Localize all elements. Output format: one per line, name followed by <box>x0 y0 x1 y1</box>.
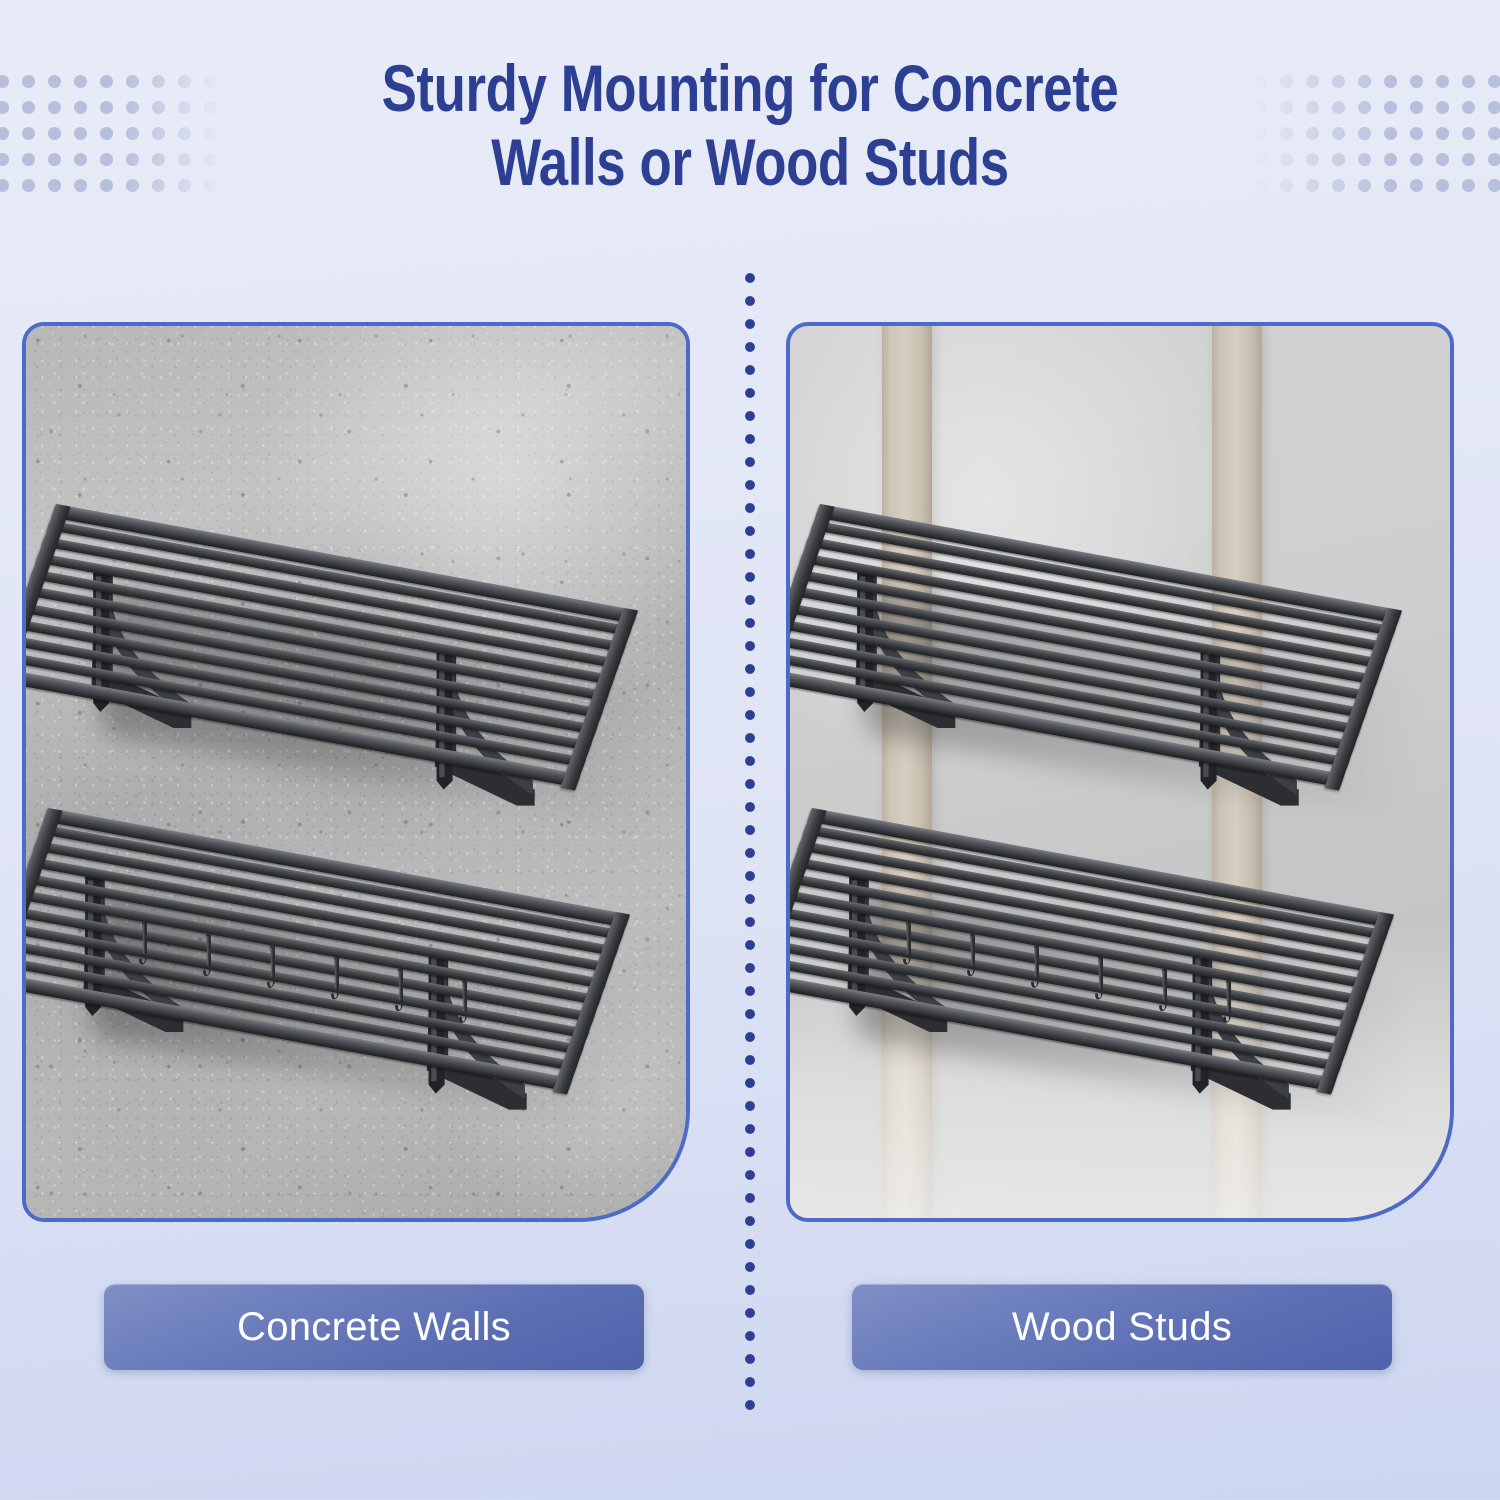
scene-concrete <box>26 326 686 1218</box>
decor-dot <box>0 101 9 114</box>
decor-dot <box>1410 127 1423 140</box>
decor-dot <box>1436 75 1449 88</box>
shelf-hanging-hook <box>457 981 473 1033</box>
upper-shelf <box>56 504 657 795</box>
decor-dot <box>48 179 61 192</box>
decor-dot <box>100 127 113 140</box>
decor-dot <box>74 127 87 140</box>
decor-dot <box>48 101 61 114</box>
decor-dot <box>1358 127 1371 140</box>
shelf-hanging-hook <box>393 969 409 1021</box>
decor-dot <box>100 179 113 192</box>
decor-dot <box>1358 75 1371 88</box>
panel-concrete-walls <box>22 322 690 1222</box>
decor-dot <box>126 101 139 114</box>
label-concrete-walls-text: Concrete Walls <box>237 1305 511 1350</box>
decor-dot <box>1436 127 1449 140</box>
decor-dot <box>100 75 113 88</box>
page-title: Sturdy Mounting for Concrete Walls or Wo… <box>150 52 1350 200</box>
decor-dot <box>126 153 139 166</box>
shelf-hanging-hook <box>901 922 917 974</box>
decor-dot <box>1488 153 1500 166</box>
label-wood-studs-text: Wood Studs <box>1012 1305 1232 1350</box>
decor-dot <box>1488 101 1500 114</box>
shelf-hanging-hook <box>329 957 345 1009</box>
decor-dot <box>1410 153 1423 166</box>
decor-dot <box>1358 153 1371 166</box>
decor-dot <box>1384 75 1397 88</box>
decor-dot <box>1384 101 1397 114</box>
decor-dot <box>0 75 9 88</box>
decor-dot <box>0 179 9 192</box>
shelf-hanging-hook <box>201 934 217 986</box>
shelf-hanging-hook <box>265 946 281 998</box>
decor-dot <box>1384 179 1397 192</box>
decor-dot <box>74 75 87 88</box>
page-title-line-2: Walls or Wood Studs <box>150 126 1350 200</box>
decor-dot <box>1384 127 1397 140</box>
decor-dot <box>100 153 113 166</box>
decor-dot <box>22 101 35 114</box>
decor-dot <box>1462 153 1475 166</box>
label-wood-studs[interactable]: Wood Studs <box>852 1284 1392 1370</box>
decor-dot <box>48 75 61 88</box>
scene-wood-studs <box>790 326 1450 1218</box>
vertical-dotted-divider <box>744 272 756 1420</box>
decor-dot <box>1384 153 1397 166</box>
decor-dot <box>1436 179 1449 192</box>
decor-dot <box>1462 127 1475 140</box>
decor-dot <box>1462 75 1475 88</box>
decor-dot <box>22 75 35 88</box>
panel-wood-studs <box>786 322 1454 1222</box>
shelf-hanging-hook <box>1029 946 1045 998</box>
decor-dot <box>48 153 61 166</box>
decor-dot <box>1488 75 1500 88</box>
lower-shelf <box>812 808 1413 1099</box>
page-title-line-1: Sturdy Mounting for Concrete <box>150 52 1350 126</box>
decor-dot <box>22 127 35 140</box>
decor-dot <box>1358 101 1371 114</box>
decor-dot <box>126 127 139 140</box>
decor-dot <box>1410 75 1423 88</box>
decor-dot <box>1488 127 1500 140</box>
shelf-hanging-hook <box>137 922 153 974</box>
decor-dot <box>126 75 139 88</box>
lower-shelf <box>48 808 649 1099</box>
decor-dot <box>1436 101 1449 114</box>
shelf-hanging-hook <box>1093 957 1109 1009</box>
decor-dot <box>74 153 87 166</box>
shelf-hanging-hook <box>1157 969 1173 1021</box>
decor-dot <box>1410 101 1423 114</box>
decor-dot <box>1436 153 1449 166</box>
decor-dot <box>74 101 87 114</box>
decor-dot <box>1488 179 1500 192</box>
upper-shelf <box>820 504 1421 795</box>
decor-dot <box>1462 179 1475 192</box>
decor-dot <box>0 153 9 166</box>
shelf-hanging-hook <box>965 934 981 986</box>
decor-dot <box>22 153 35 166</box>
decor-dot <box>74 179 87 192</box>
decor-dot <box>0 127 9 140</box>
decor-dot <box>1358 179 1371 192</box>
decor-dot <box>1462 101 1475 114</box>
shelf-hanging-hook <box>1221 981 1237 1033</box>
decor-dot <box>22 179 35 192</box>
label-concrete-walls[interactable]: Concrete Walls <box>104 1284 644 1370</box>
decor-dot <box>100 101 113 114</box>
decor-dot <box>48 127 61 140</box>
decor-dot <box>1410 179 1423 192</box>
decor-dot <box>126 179 139 192</box>
